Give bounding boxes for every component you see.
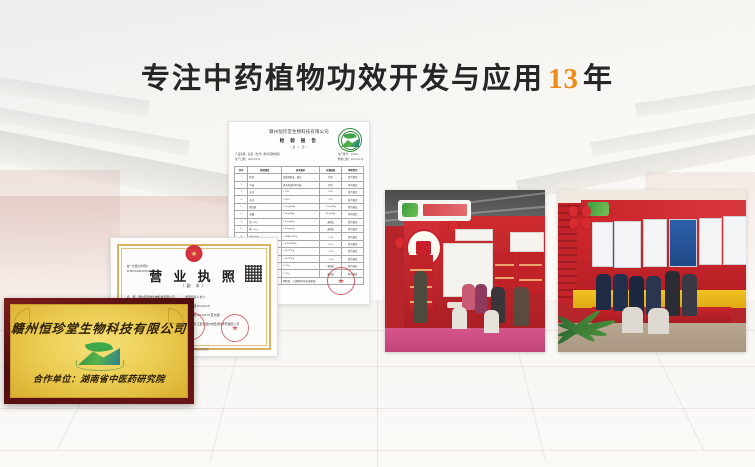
table-cell: 3 [235,189,248,196]
table-cell: ≤ 50 CFU/g [282,255,320,262]
booth-logo-icon [402,203,418,217]
national-emblem [186,245,203,262]
booth-info-panel-small [455,229,492,241]
qr-code [245,265,262,282]
table-header-cell: 序号 [235,166,248,173]
table-cell: 砷（As） [248,225,282,232]
market-supervision-seal [221,314,249,342]
plaque-cooperation-text: 合作单位：湖南省中医药研究院 [10,372,187,385]
wall-poster [592,222,613,266]
table-cell: 3.1% [319,196,342,203]
table-header-cell: 技术要求 [282,166,320,173]
table-row: 6总糖≤ 60 g/100g42 g/100g符合规定 [235,211,364,218]
table-row: 2气味具有本品特有气味符合符合规定 [235,181,364,188]
page-title-suffix: 年 [583,63,614,95]
page-title-prefix: 专注中药植物功效开发与应用 [141,63,544,95]
table-cell: 符合 [319,181,342,188]
table-cell: 1 [235,174,248,181]
table-cell: 2 [235,181,248,188]
chair [452,307,466,330]
table-header-cell: 检验项目 [248,166,282,173]
table-cell: ≤ 50 CFU/g [282,248,320,255]
table-cell: 符合规定 [342,233,364,240]
table-cell: 灰分 [248,196,282,203]
table-cell: 0 / 25g [282,262,320,269]
booth-shelf-a [494,252,515,288]
page-title-years: 13 [544,63,583,95]
table-cell: 符合规定 [342,211,364,218]
table-cell: 42 g/100g [319,211,342,218]
table-cell: 2.3 g/100g [319,203,342,210]
table-cell: 5.2% [319,189,342,196]
table-cell: 8 [235,225,248,232]
potted-palm [558,268,626,352]
table-cell: 未检出 [319,225,342,232]
table-cell: 棕黄色粉末、味甘 [282,174,320,181]
table-cell: 性状 [248,174,282,181]
table-cell: ≤ 10000 CFU/g [282,233,320,240]
wall-poster [614,221,640,268]
inspection-seal [327,267,355,295]
table-cell: ≤ 5.0% [282,196,320,203]
table-cell: ≤ 0.5 mg/kg [282,225,320,232]
green-mountain-leaf-logo [338,128,362,152]
table-cell: ＜10 [319,255,342,262]
visitor [475,284,488,313]
wall-poster-blue [669,219,697,266]
chair [484,310,498,333]
table-cell: 6 [235,211,248,218]
license-field-1: 成立日期 2012-05-18 [185,303,259,312]
table-cell: ≤ 7.0% [282,189,320,196]
cooperation-plaque[interactable]: 赣州恒珍堂生物科技有限公司 合作单位：湖南省中医药研究院 [4,298,194,404]
table-cell: 符合规定 [342,189,364,196]
booth-sign-board [398,200,472,221]
table-cell: 0 / 25g [282,270,320,277]
table-cell: 蛋白质 [248,203,282,210]
table-cell: 4 [235,196,248,203]
table-header-cell: 单项判定 [342,166,364,173]
table-cell: ≤ 60 g/100g [282,211,320,218]
wall-poster [699,218,722,265]
table-cell: ＜10 [319,233,342,240]
promo-banner: 专注中药植物功效开发与应用13年 赣州恒珍堂生物科技有限公司 检 验 报 告 （… [0,0,755,467]
table-header-cell: 实测结果 [319,166,342,173]
wall-poster [643,219,668,266]
license-field-0: 法定代表人 刘×× [185,294,259,303]
table-cell: 符合规定 [342,181,364,188]
table-cell: 总糖 [248,211,282,218]
table-header-row: 序号检验项目技术要求实测结果单项判定 [235,166,364,173]
exhibition-booth-photo-left[interactable] [385,190,545,352]
table-cell: 符合规定 [342,174,364,181]
table-cell: 符合规定 [342,248,364,255]
table-cell: 未检出 [319,218,342,225]
table-cell: 具有本品特有气味 [282,181,320,188]
table-cell: 7 [235,218,248,225]
license-credit-code-value: 91360702MA35XXXXXX [127,269,155,274]
table-cell: 铅（Pb） [248,218,282,225]
exhibition-booth-photo-right[interactable] [558,190,746,352]
visitor [462,284,475,310]
table-row: 5蛋白质≥ 1.0 g/100g2.3 g/100g符合规定 [235,203,364,210]
plaque-company-name: 赣州恒珍堂生物科技有限公司 [10,318,188,337]
table-cell: ≤ 0.5 mg/kg [282,218,320,225]
license-subtitle: （副 本） [111,283,277,289]
table-cell: 水分 [248,189,282,196]
gate-pillar-left [0,170,120,310]
table-cell: ＜0.3 [319,240,342,247]
report-meta-right-1: 检验日期：2021-03-15 [338,158,363,163]
table-cell: ＜10 [319,248,342,255]
table-cell: 符合规定 [342,255,364,262]
wall-poster [723,216,746,265]
green-mountain-leaf-logo [72,341,126,371]
table-cell: 气味 [248,181,282,188]
table-cell: 5 [235,203,248,210]
table-row: 4灰分≤ 5.0%3.1%符合规定 [235,196,364,203]
booth-info-panel-right [510,232,544,252]
visitor [665,271,680,316]
table-cell: 符合规定 [342,240,364,247]
table-cell: 符合规定 [342,218,364,225]
table-row: 8砷（As）≤ 0.5 mg/kg未检出符合规定 [235,225,364,232]
visitor [682,274,697,316]
report-meta-left-1: 生产日期：2021-03-12 [235,158,280,163]
booth-sign-text [423,204,467,215]
table-row: 1性状棕黄色粉末、味甘符合符合规定 [235,174,364,181]
page-title: 专注中药植物功效开发与应用13年 [0,55,755,97]
table-row: 7铅（Pb）≤ 0.5 mg/kg未检出符合规定 [235,218,364,225]
table-cell: 符合规定 [342,203,364,210]
visitor [513,287,529,326]
plaque-plate: 赣州恒珍堂生物科技有限公司 合作单位：湖南省中医药研究院 [10,304,188,398]
table-cell: 符合规定 [342,196,364,203]
table-cell: ≥ 1.0 g/100g [282,203,320,210]
booth-carpet [385,328,545,352]
booth-banner [581,200,746,219]
table-row: 3水分≤ 7.0%5.2%符合规定 [235,189,364,196]
chair [648,308,669,334]
table-cell: ≤ 0.92 MPN/g [282,240,320,247]
table-cell: 符合 [319,174,342,181]
visitor [414,271,427,323]
table-cell: 符合规定 [342,225,364,232]
license-credit-code: 统一社会信用代码 91360702MA35XXXXXX [127,264,155,275]
